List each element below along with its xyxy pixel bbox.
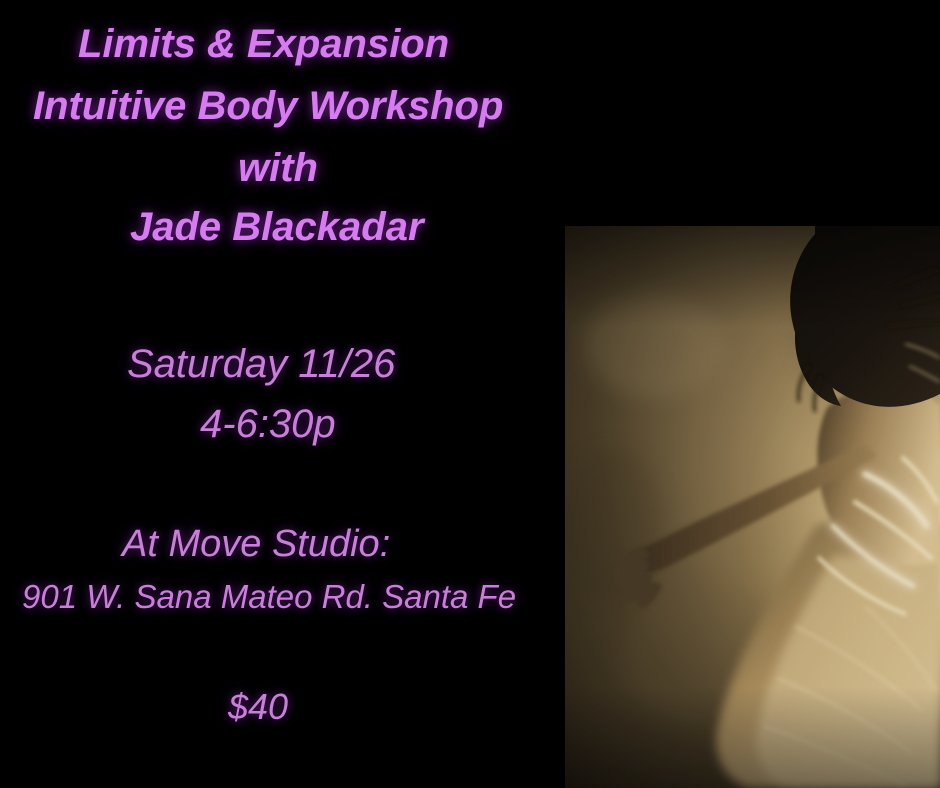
- flyer-presenter-name: Jade Blackadar: [130, 205, 424, 250]
- event-time: 4-6:30p: [200, 402, 336, 447]
- event-date: Saturday 11/26: [127, 342, 395, 387]
- dancer-photo: [565, 226, 940, 788]
- event-flyer: Limits & Expansion Intuitive Body Worksh…: [0, 0, 940, 788]
- flyer-title-with: with: [238, 146, 318, 191]
- venue-address: 901 W. Sana Mateo Rd. Santa Fe: [22, 578, 516, 616]
- flyer-title-line-2: Intuitive Body Workshop: [33, 84, 503, 129]
- flyer-text-column: Limits & Expansion Intuitive Body Worksh…: [0, 0, 565, 788]
- flyer-title-line-1: Limits & Expansion: [78, 22, 449, 67]
- venue-name: At Move Studio:: [122, 523, 390, 566]
- event-price: $40: [228, 686, 288, 728]
